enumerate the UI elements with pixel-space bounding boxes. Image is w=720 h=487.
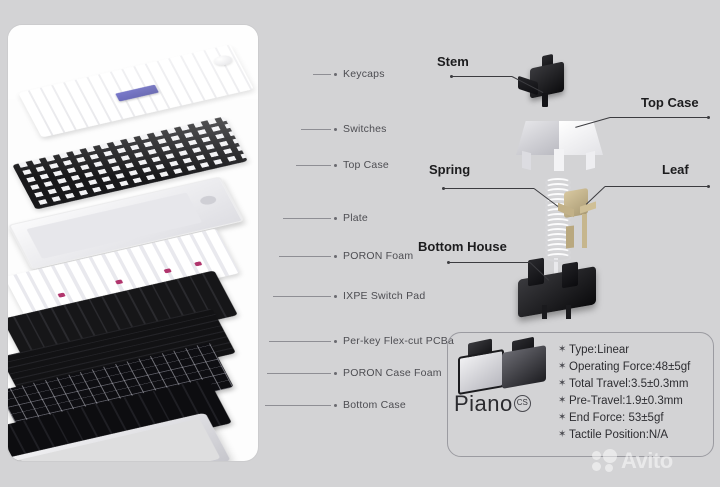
callout-top-case: Top Case	[296, 158, 389, 172]
callout-plate: Plate	[283, 211, 368, 225]
spec-text: Type:Linear	[569, 344, 629, 356]
callout-leader-line	[296, 165, 331, 166]
spec-row: ✶End Force: 53±5gf	[558, 409, 690, 426]
callout-leader-line	[273, 296, 331, 297]
callout-leader-line	[313, 74, 331, 75]
spec-bullet-icon: ✶	[558, 345, 569, 355]
callout-dot-icon	[334, 340, 337, 343]
leader-segment	[605, 186, 708, 187]
callout-label: Per-key Flex-cut PCBa	[343, 335, 454, 347]
callout-bottom-case: Bottom Case	[265, 398, 406, 412]
callout-keycaps: Keycaps	[313, 67, 385, 81]
callout-dot-icon	[334, 255, 337, 258]
callout-per-key-flex-cut-pcba: Per-key Flex-cut PCBa	[269, 334, 454, 348]
keyboard-layer-stack	[8, 29, 258, 459]
callout-dot-icon	[334, 164, 337, 167]
spec-bullet-icon: ✶	[558, 413, 569, 423]
callout-label: Bottom Case	[343, 399, 406, 411]
callout-label: PORON Foam	[343, 250, 413, 262]
spec-list: ✶Type:Linear✶Operating Force:48±5gf✶Tota…	[558, 341, 690, 443]
spec-text: Total Travel:3.5±0.3mm	[569, 378, 688, 390]
callout-dot-icon	[334, 295, 337, 298]
spec-row: ✶Pre-Travel:1.9±0.3mm	[558, 392, 690, 409]
switch-spec-card: PianoCS ✶Type:Linear✶Operating Force:48±…	[447, 332, 714, 457]
switch-label-leaf: Leaf	[662, 162, 689, 177]
spec-bullet-icon: ✶	[558, 430, 569, 440]
avito-logo-icon	[592, 449, 618, 473]
callout-poron-case-foam: PORON Case Foam	[267, 366, 442, 380]
switch-part-stem	[512, 55, 582, 111]
spec-row: ✶Total Travel:3.5±0.3mm	[558, 375, 690, 392]
spec-bullet-icon: ✶	[558, 362, 569, 372]
spec-row: ✶Tactile Position:N/A	[558, 426, 690, 443]
switch-label-spring: Spring	[429, 162, 470, 177]
callout-poron-foam: PORON Foam	[279, 249, 413, 263]
spec-text: Pre-Travel:1.9±0.3mm	[569, 395, 683, 407]
callout-label: PORON Case Foam	[343, 367, 442, 379]
watermark-text: Avito	[621, 448, 673, 474]
leader-segment	[451, 76, 512, 77]
callout-leader-line	[269, 341, 331, 342]
spec-bullet-icon: ✶	[558, 396, 569, 406]
switch-part-bottom-house	[518, 255, 596, 317]
callout-dot-icon	[334, 128, 337, 131]
callout-label: Plate	[343, 212, 368, 224]
callout-dot-icon	[334, 217, 337, 220]
switch-label-top-case: Top Case	[641, 95, 699, 110]
screenshot-root: KeycapsSwitchesTop CasePlatePORON FoamIX…	[0, 0, 720, 487]
switch-label-stem: Stem	[437, 54, 469, 69]
spec-text: Tactile Position:N/A	[569, 429, 668, 441]
callout-dot-icon	[334, 73, 337, 76]
leader-segment	[443, 188, 534, 189]
leader-segment	[448, 262, 530, 263]
leader-segment	[610, 117, 708, 118]
callout-dot-icon	[334, 404, 337, 407]
callout-switches: Switches	[301, 122, 387, 136]
callout-leader-line	[301, 129, 331, 130]
spec-row: ✶Operating Force:48±5gf	[558, 358, 690, 375]
product-name: Piano	[454, 391, 513, 417]
callout-label: Switches	[343, 123, 387, 135]
callout-leader-line	[283, 218, 331, 219]
callout-dot-icon	[334, 372, 337, 375]
spec-bullet-icon: ✶	[558, 379, 569, 389]
callout-label: Keycaps	[343, 68, 385, 80]
callout-leader-line	[267, 373, 331, 374]
spec-text: Operating Force:48±5gf	[569, 361, 690, 373]
callout-ixpe-switch-pad: IXPE Switch Pad	[273, 289, 425, 303]
spec-text: End Force: 53±5gf	[569, 412, 664, 424]
callout-leader-line	[265, 405, 331, 406]
avito-watermark: Avito	[592, 448, 673, 474]
spec-row: ✶Type:Linear	[558, 341, 690, 358]
callout-leader-line	[279, 256, 331, 257]
product-name-block: PianoCS	[454, 391, 558, 417]
trademark-badge: CS	[514, 395, 531, 412]
switch-product-photo	[456, 339, 552, 395]
exploded-keyboard-card	[8, 25, 258, 461]
callout-label: Top Case	[343, 159, 389, 171]
switch-label-bottom-house: Bottom House	[418, 239, 507, 254]
callout-label: IXPE Switch Pad	[343, 290, 425, 302]
